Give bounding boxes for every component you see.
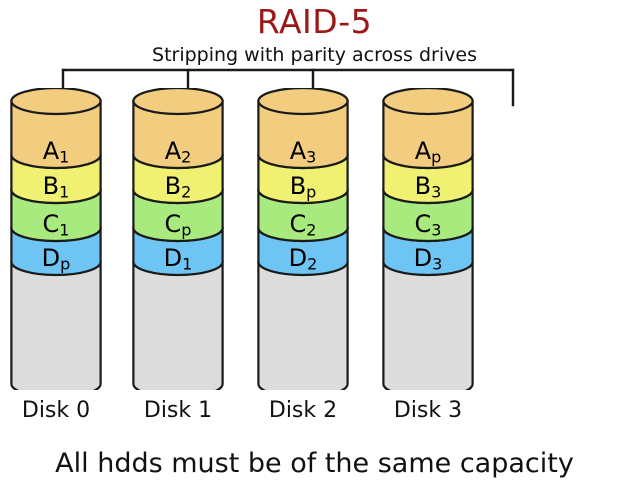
- disk-3-block-A: [383, 88, 472, 168]
- disk-2-block-A: [258, 88, 347, 168]
- disk-0-block-A: [11, 88, 100, 168]
- disk-3-free-space: [383, 262, 472, 390]
- disk-array: A1B1C1DpDisk 0 A2B2CpD1Disk 1: [0, 0, 629, 430]
- disk-2[interactable]: A3BpC2D2: [257, 88, 349, 390]
- disk-0-caption: Disk 0: [10, 398, 102, 423]
- disk-1-caption: Disk 1: [132, 398, 224, 423]
- disk-2-caption: Disk 2: [257, 398, 349, 423]
- disk-1-free-space: [133, 262, 222, 390]
- disk-2-free-space: [258, 262, 347, 390]
- capacity-note: All hdds must be of the same capacity: [0, 448, 629, 479]
- disk-1[interactable]: A2B2CpD1: [132, 88, 224, 390]
- disk-3[interactable]: ApB3C3D3: [382, 88, 474, 390]
- disk-3-caption: Disk 3: [382, 398, 474, 423]
- disk-0[interactable]: A1B1C1Dp: [10, 88, 102, 390]
- disk-0-free-space: [11, 262, 100, 390]
- raid5-diagram: RAID-5 Stripping with parity across driv…: [0, 0, 629, 495]
- disk-1-block-A: [133, 88, 222, 168]
